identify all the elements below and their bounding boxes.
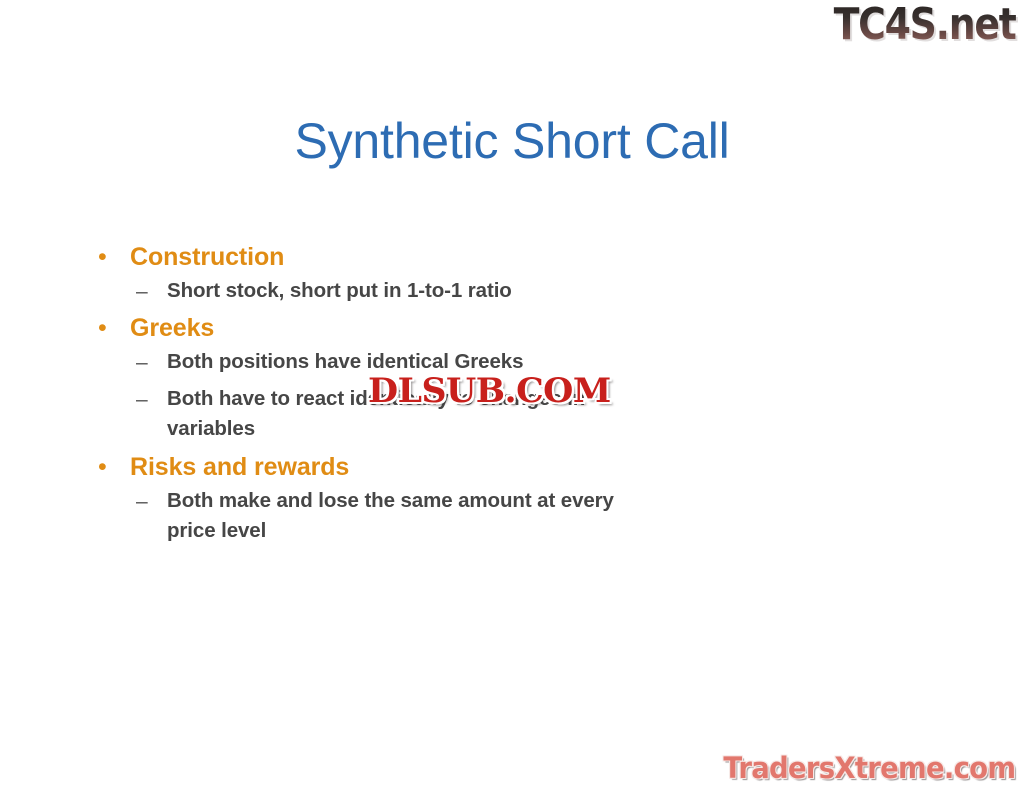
bullet-dot-icon: •	[92, 450, 130, 484]
dash-bullet-icon: –	[136, 486, 167, 517]
bullet-dot-icon: •	[92, 240, 130, 274]
outline-heading-greeks: • Greeks	[92, 311, 792, 345]
tradersxtreme-footer-logo: TradersXtreme.com	[723, 751, 1015, 785]
dash-bullet-icon: –	[136, 347, 167, 378]
outline-subitem-label: Short stock, short put in 1-to-1 ratio	[167, 276, 637, 306]
dash-bullet-icon: –	[136, 276, 167, 307]
page-title: Synthetic Short Call	[0, 112, 1024, 170]
outline-group: • Risks and rewards – Both make and lose…	[92, 450, 792, 546]
outline-group: • Construction – Short stock, short put …	[92, 240, 792, 307]
outline-heading-label: Greeks	[130, 311, 792, 345]
outline-heading-label: Construction	[130, 240, 792, 274]
dlsub-watermark: DLSUB.COM	[368, 372, 611, 410]
outline-subitem-label: Both make and lose the same amount at ev…	[167, 486, 637, 546]
bullet-dot-icon: •	[92, 311, 130, 345]
outline-subitem: – Both make and lose the same amount at …	[92, 486, 792, 546]
outline-heading-risks-and-rewards: • Risks and rewards	[92, 450, 792, 484]
tc4s-brand-logo: TC4S.net	[834, 2, 1016, 48]
outline-heading-label: Risks and rewards	[130, 450, 792, 484]
outline-subitem: – Short stock, short put in 1-to-1 ratio	[92, 276, 792, 307]
dash-bullet-icon: –	[136, 384, 167, 415]
presentation-slide: TC4S.net TC4S.net Synthetic Short Call •…	[0, 0, 1024, 791]
outline-heading-construction: • Construction	[92, 240, 792, 274]
